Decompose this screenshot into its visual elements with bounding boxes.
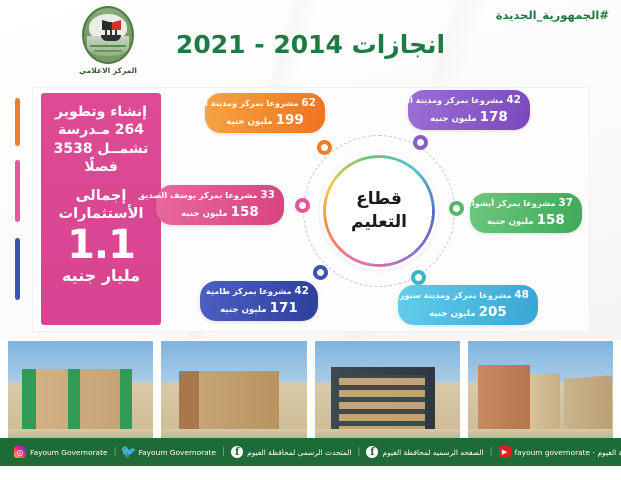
pill-tamiya-amount: 171 [270,300,298,316]
pill-tamiya-unit: مليون جنيه [220,305,266,315]
pill-ibshway-description: مشروعا بمركز أبشواي [464,198,555,208]
pill-youssef-el-seddik: 33 مشروعا بمركز يوسف الصديق 158 مليون جن… [156,185,284,225]
pill-sinnuris-count: 48 [514,289,529,301]
pill-ibshway-unit: مليون جنيه [487,217,533,227]
pill-sinnuris: 48 مشروعا بمركز ومدينة سنورس 205 مليون ج… [398,285,538,325]
pill-tamiya-count: 42 [294,285,309,297]
node-cyan [411,270,426,285]
pill-ibshway-amount: 158 [537,212,565,228]
node-green [449,201,464,216]
pill-youssef-description: مشروعا بمركز يوسف الصديق [138,190,257,200]
facebook-icon: f [366,446,378,458]
accent-bar-pink [15,160,20,222]
stats-headline: إنشاء وتطوير 264 مـدرسة تشمــل 3538 فصلً… [47,103,155,177]
school-photo-1 [468,341,613,438]
footer-label-youtube: محافظة الفيوم - fayoum governorate [515,448,621,457]
bottom-white-strip [0,466,621,480]
pill-sinnuris-description: مشروعا بمركز ومدينة سنورس [388,290,511,300]
footer-label-instagram: Fayoum Governorate [30,448,108,457]
pill-fayoum-amount: 178 [480,109,508,125]
footer-item-instagram[interactable]: ◎ Fayoum Governorate [8,446,114,458]
node-purple [413,135,428,150]
footer-item-facebook-spokesman[interactable]: f المتحدث الرسمى لمحافظة الفيوم [225,446,357,458]
pill-atsa-description: مشروعا بمركز ومدينة اطسا [186,98,299,108]
infographic-page: #الجمهورية_الجديدة المركز الاعلامي انجاز… [0,0,621,480]
footer-label-facebook-spokesman: المتحدث الرسمى لمحافظة الفيوم [247,448,351,457]
accent-bar-orange [15,98,20,146]
photo-strip [8,341,613,438]
stats-investment-value: 1.1 [47,225,155,265]
school-photo-4 [8,341,153,438]
pill-youssef-count: 33 [260,189,275,201]
education-sector-wheel: قطاع التعليم [303,135,455,287]
stats-investment-unit: مليار جنيه [47,266,155,285]
social-footer: ◎ Fayoum Governorate | 🐦 Fayoum Governor… [0,438,621,466]
school-photo-2 [315,341,460,438]
pill-atsa-count: 62 [301,97,316,109]
pill-sinnuris-amount: 205 [479,304,507,320]
accent-bar-blue [15,238,20,300]
accent-bar-group [15,98,21,326]
pill-sinnuris-unit: مليون جنيه [429,309,475,319]
instagram-icon: ◎ [14,446,26,458]
pill-fayoum: 42 مشروعا بمركز ومدينة الفيوم 178 مليون … [408,90,530,130]
node-orange [317,140,332,155]
pill-tamiya-description: مشروعا بمركز طامية [206,286,292,296]
pill-youssef-amount: 158 [231,204,259,220]
footer-item-facebook-official[interactable]: f الصفحه الرسميه لمحافظة الفيوم [360,446,489,458]
pill-atsa-unit: مليون جنيه [226,117,272,127]
node-pink [295,198,310,213]
wheel-label: قطاع التعليم [303,135,455,287]
page-title: انجازات 2014 - 2021 [0,30,621,59]
wheel-label-line1: قطاع [356,188,402,211]
wheel-label-line2: التعليم [351,211,407,234]
pill-atsa-amount: 199 [276,112,304,128]
pill-ibshway: 37 مشروعا بمركز أبشواي 158 مليون جنيه [470,193,582,233]
youtube-icon: ▶ [499,446,511,458]
pill-youssef-unit: مليون جنيه [181,209,227,219]
footer-item-twitter[interactable]: 🐦 Fayoum Governorate [117,446,223,458]
pill-fayoum-unit: مليون جنيه [430,114,476,124]
pill-ibshway-count: 37 [558,197,573,209]
school-photo-3 [161,341,306,438]
twitter-icon: 🐦 [123,446,135,458]
footer-label-twitter: Fayoum Governorate [139,448,217,457]
footer-label-facebook-official: الصفحه الرسميه لمحافظة الفيوم [382,448,483,457]
pill-fayoum-count: 42 [506,94,521,106]
stats-panel: إنشاء وتطوير 264 مـدرسة تشمــل 3538 فصلً… [41,93,161,325]
facebook-icon: f [231,446,243,458]
node-blue [313,265,328,280]
footer-item-youtube[interactable]: ▶ محافظة الفيوم - fayoum governorate [493,446,621,458]
logo-caption: المركز الاعلامي [70,66,146,75]
pill-tamiya: 42 مشروعا بمركز طامية 171 مليون جنيه [200,281,318,321]
hashtag-text: #الجمهورية_الجديدة [496,8,609,22]
pill-atsa: 62 مشروعا بمركز ومدينة اطسا 199 مليون جن… [205,93,325,133]
pill-fayoum-description: مشروعا بمركز ومدينة الفيوم [387,95,504,105]
